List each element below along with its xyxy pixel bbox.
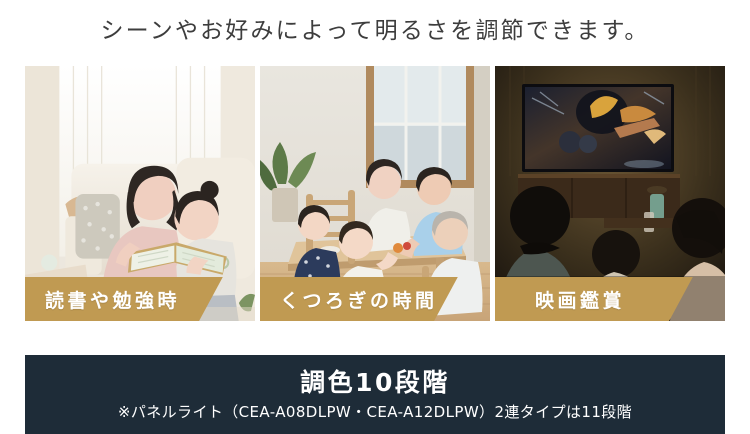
scene-caption-ribbon-dining: くつろぎの時間	[260, 277, 458, 321]
scene-panel-reading[interactable]: 読書や勉強時	[25, 66, 255, 321]
scene-caption-label: 映画鑑賞	[495, 286, 625, 313]
page-title: シーンやお好みによって明るさを調節できます。	[0, 14, 750, 48]
scene-caption-ribbon-reading: 読書や勉強時	[25, 277, 223, 321]
scene-panel-row: 読書や勉強時	[25, 66, 725, 321]
spec-banner-title: 調色10段階	[300, 368, 450, 398]
spec-banner: 調色10段階 ※パネルライト（CEA-A08DLPW・CEA-A12DLPW）2…	[25, 355, 725, 434]
scene-caption-label: 読書や勉強時	[25, 286, 180, 313]
spec-banner-note: ※パネルライト（CEA-A08DLPW・CEA-A12DLPW）2連タイプは11…	[118, 401, 632, 423]
scene-caption-ribbon-movie: 映画鑑賞	[495, 277, 693, 321]
scene-panel-movie[interactable]: 映画鑑賞	[495, 66, 725, 321]
scene-panel-dining[interactable]: くつろぎの時間	[260, 66, 490, 321]
scene-caption-label: くつろぎの時間	[260, 286, 438, 313]
